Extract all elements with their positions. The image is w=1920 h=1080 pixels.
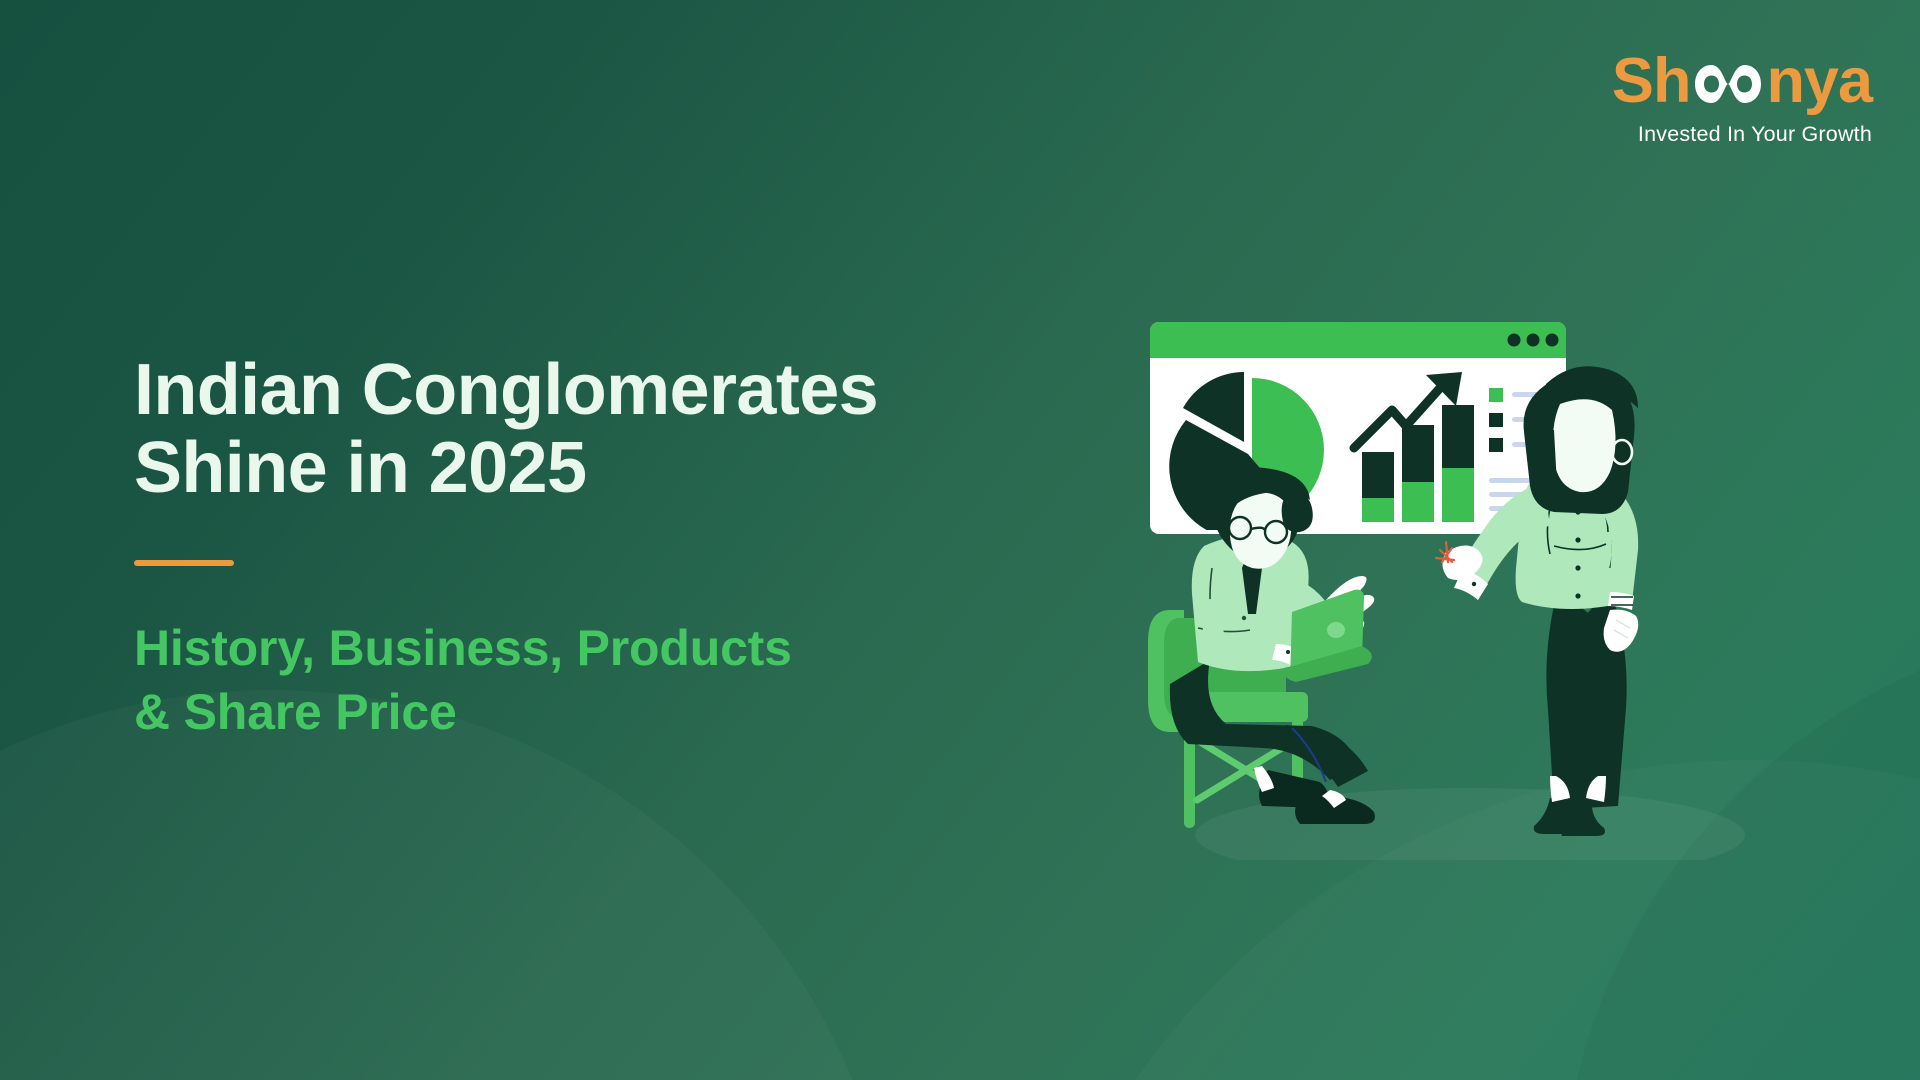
logo-wordmark: Sh nya	[1612, 50, 1872, 113]
background-arc-left	[0, 690, 900, 1080]
infinity-icon	[1691, 55, 1765, 118]
hero-copy-block: Indian Conglomerates Shine in 2025 Histo…	[134, 352, 1174, 744]
window-dots-icon	[1508, 334, 1559, 347]
page-title: Indian Conglomerates Shine in 2025	[134, 352, 1174, 508]
logo-tagline: Invested In Your Growth	[1612, 124, 1872, 146]
title-divider	[134, 560, 234, 566]
browser-chrome-bar	[1150, 322, 1566, 358]
logo-text-suffix: nya	[1766, 50, 1872, 113]
page-subtitle: History, Business, Products & Share Pric…	[134, 616, 1174, 744]
hero-illustration	[1140, 300, 1840, 860]
brand-logo[interactable]: Sh nya Invested In Your Growth	[1612, 50, 1872, 146]
logo-text-prefix: Sh	[1612, 50, 1691, 113]
hero-banner: Sh nya Invested In Your Growth Indian Co…	[0, 0, 1920, 1080]
